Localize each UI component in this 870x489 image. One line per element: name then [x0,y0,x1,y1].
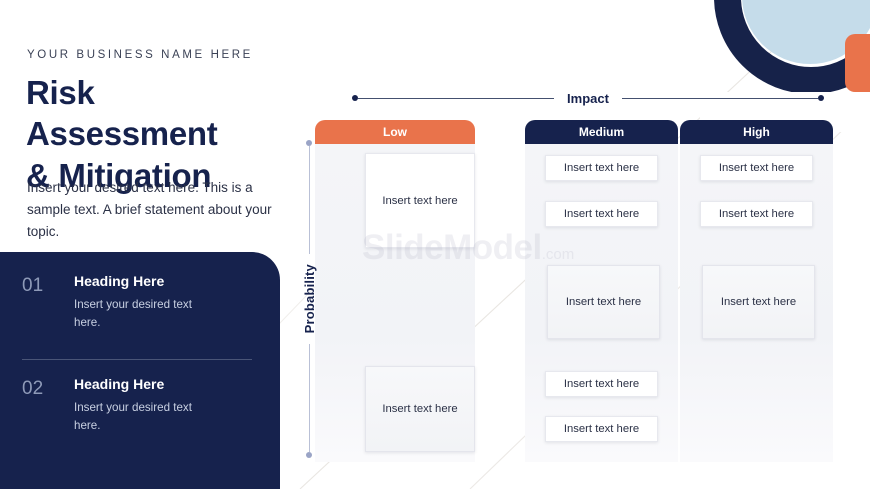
highlight-number: 02 [22,377,74,398]
risk-card[interactable]: Insert text here [365,366,475,452]
axis-line-bottom [309,344,310,452]
risk-card[interactable]: Insert text here [700,201,813,227]
highlight-body: Insert your desired text here. [74,399,204,434]
probability-axis: Probability [300,140,318,458]
risk-card[interactable]: Insert text here [365,153,475,248]
risk-card[interactable]: Insert text here [545,155,658,181]
impact-column-label: Medium [579,125,624,139]
slide-root: YOUR BUSINESS NAME HERE Risk Assessment … [0,0,870,489]
impact-axis-label: Impact [554,91,622,106]
highlight-text-group: Heading Here Insert your desired text he… [74,377,260,434]
axis-line-top [309,146,310,254]
highlights-panel: 01 Heading Here Insert your desired text… [0,252,280,489]
highlight-number: 01 [22,274,74,295]
risk-card[interactable]: Insert text here [545,416,658,442]
impact-axis: Impact [352,89,824,107]
highlight-text-group: Heading Here Insert your desired text he… [74,274,260,331]
page-title-line-1: Risk Assessment [26,72,288,155]
highlights-divider [22,359,252,360]
risk-card[interactable]: Insert text here [545,371,658,397]
impact-column-low: Low Insert text here Insert text here [370,120,475,462]
risk-matrix: Low Med High Low Insert text here Insert… [322,120,834,462]
intro-paragraph: Insert your desired text here. This is a… [27,177,283,243]
axis-dot-end-icon [818,95,824,101]
probability-axis-label: Probability [302,254,317,343]
risk-card[interactable]: Insert text here [547,265,660,339]
axis-dot-bottom-icon [306,452,312,458]
impact-column-header[interactable]: Low [315,120,475,144]
impact-column-high: High Insert text here Insert text here I… [680,120,833,462]
highlight-item-01: 01 Heading Here Insert your desired text… [22,274,260,331]
decorative-orange-block [845,34,870,92]
risk-card[interactable]: Insert text here [700,155,813,181]
highlight-body: Insert your desired text here. [74,296,204,331]
highlight-heading: Heading Here [74,274,260,289]
impact-column-medium: Medium Insert text here Insert text here… [525,120,678,462]
highlight-heading: Heading Here [74,377,260,392]
impact-column-label: High [743,125,770,139]
impact-column-header[interactable]: Medium [525,120,678,144]
risk-card[interactable]: Insert text here [545,201,658,227]
highlight-item-02: 02 Heading Here Insert your desired text… [22,377,260,434]
business-name-eyebrow: YOUR BUSINESS NAME HERE [27,49,253,61]
risk-card[interactable]: Insert text here [702,265,815,339]
impact-column-header[interactable]: High [680,120,833,144]
impact-column-label: Low [383,125,407,139]
axis-line-left [358,98,554,99]
axis-line-right [622,98,818,99]
